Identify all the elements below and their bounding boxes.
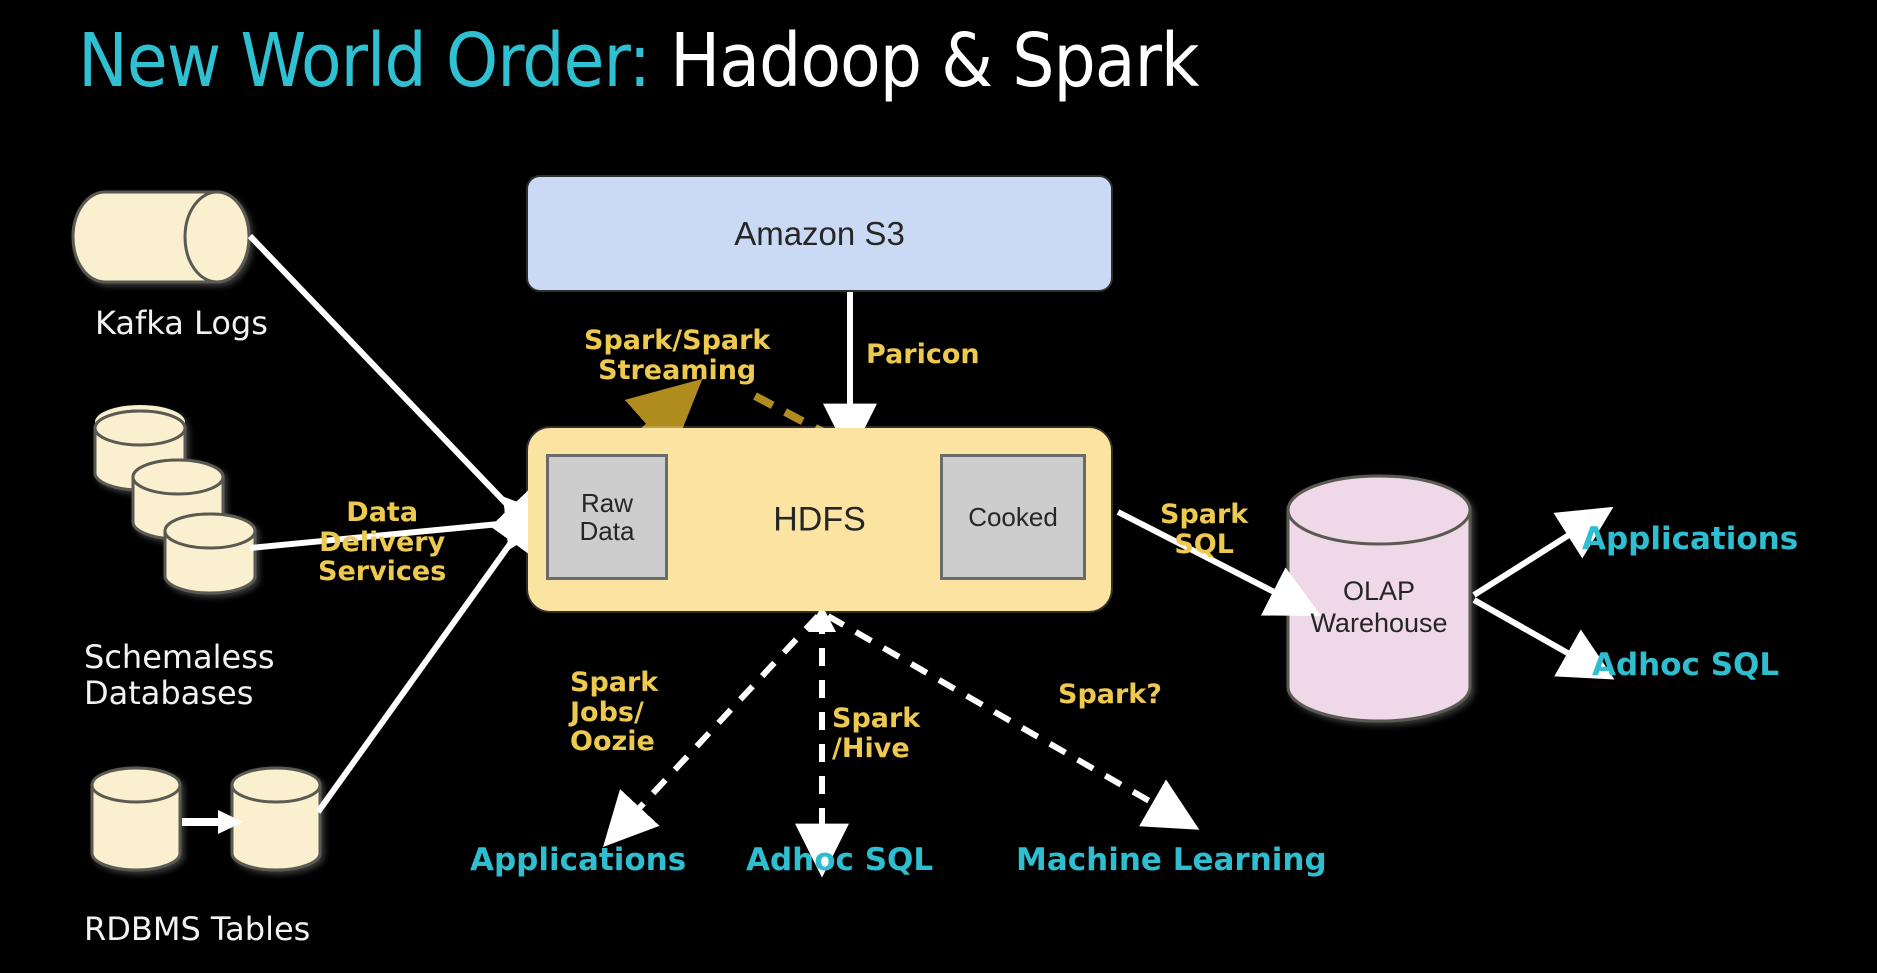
node-olap-warehouse-label: OLAP Warehouse <box>1288 575 1470 640</box>
source-label-schemaless-databases: Schemaless Databases <box>84 640 275 712</box>
node-amazon-s3-label: Amazon S3 <box>734 215 905 253</box>
edge-label-spark-hive: Spark /Hive <box>832 704 920 763</box>
node-amazon-s3[interactable]: Amazon S3 <box>528 177 1111 290</box>
title-accent: New World Order: <box>78 18 650 104</box>
edge-label-spark-jobs-oozie: Spark Jobs/ Oozie <box>570 668 658 757</box>
edge-label-data-delivery-services: Data Delivery Services <box>318 498 446 587</box>
node-raw-data[interactable]: Raw Data <box>546 454 668 580</box>
node-raw-data-label: Raw Data <box>580 489 635 545</box>
edge-label-spark-spark-streaming: Spark/Spark Streaming <box>584 326 770 385</box>
output-right-applications[interactable]: Applications <box>1582 521 1798 557</box>
output-bottom-machine-learning[interactable]: Machine Learning <box>1016 842 1327 878</box>
node-hdfs[interactable]: HDFS Raw Data Cooked <box>528 428 1111 611</box>
edge-kafka-to-hdfs <box>250 236 520 518</box>
output-right-adhoc-sql[interactable]: Adhoc SQL <box>1592 647 1779 683</box>
node-cooked-label: Cooked <box>968 503 1058 531</box>
page-title: New World Order: Hadoop & Spark <box>78 18 1199 104</box>
title-plain: Hadoop & Spark <box>650 18 1198 104</box>
slide-canvas: New World Order: Hadoop & Spark <box>0 0 1877 973</box>
edge-olap-to-adhoc-sql <box>1474 600 1580 660</box>
output-bottom-adhoc-sql[interactable]: Adhoc SQL <box>746 842 933 878</box>
edge-label-spark-question: Spark? <box>1058 680 1162 710</box>
node-cooked[interactable]: Cooked <box>940 454 1086 580</box>
edge-label-spark-sql: Spark SQL <box>1160 500 1248 559</box>
output-bottom-applications[interactable]: Applications <box>470 842 686 878</box>
edge-olap-to-applications <box>1474 528 1580 595</box>
edge-label-paricon: Paricon <box>866 340 980 370</box>
source-label-rdbms-tables: RDBMS Tables <box>84 912 310 948</box>
node-hdfs-label: HDFS <box>773 500 866 539</box>
source-label-kafka-logs: Kafka Logs <box>95 306 268 342</box>
